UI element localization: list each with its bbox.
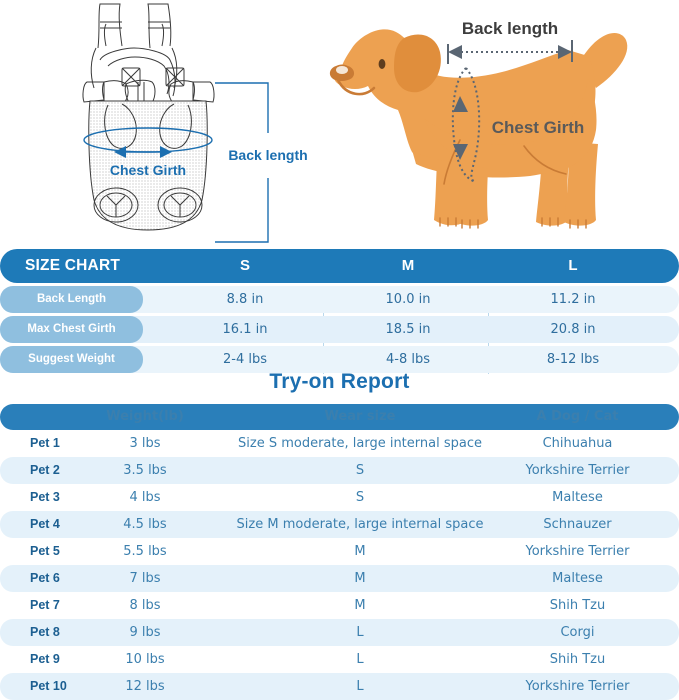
size-chart-header-row: SIZE CHART S M L: [0, 249, 679, 283]
pet-wear-size: S: [215, 457, 505, 484]
table-row: Pet 8 9 lbs L Corgi: [0, 619, 679, 646]
pet-name: Pet 5: [30, 538, 105, 565]
size-chart-table: SIZE CHART S M L Back Length 8.8 in 10.0…: [0, 249, 679, 373]
pet-wear-size: M: [215, 538, 505, 565]
try-on-header-pet: [30, 404, 105, 430]
pet-breed: Maltese: [480, 565, 675, 592]
pet-name: Pet 7: [30, 592, 105, 619]
pet-carrier-illustration: Chest Girth Back length: [60, 0, 322, 245]
size-chart-row-label: Suggest Weight: [0, 346, 143, 373]
pet-breed: Maltese: [480, 484, 675, 511]
pet-breed: Shih Tzu: [480, 646, 675, 673]
pet-wear-size: M: [215, 565, 505, 592]
pet-weight: 4.5 lbs: [95, 511, 195, 538]
size-chart-col-l: L: [533, 249, 613, 283]
pet-name: Pet 6: [30, 565, 105, 592]
size-chart-title: SIZE CHART: [25, 249, 120, 283]
pet-weight: 3 lbs: [95, 430, 195, 457]
table-row: Pet 3 4 lbs S Maltese: [0, 484, 679, 511]
dog-chest-girth-label: Chest Girth: [492, 118, 585, 137]
table-row: Pet 9 10 lbs L Shih Tzu: [0, 646, 679, 673]
table-row: Pet 10 12 lbs L Yorkshire Terrier: [0, 673, 679, 700]
size-chart-row: Max Chest Girth 16.1 in 18.5 in 20.8 in: [0, 316, 679, 343]
pet-weight: 5.5 lbs: [95, 538, 195, 565]
size-chart-row: Suggest Weight 2-4 lbs 4-8 lbs 8-12 lbs: [0, 346, 679, 373]
pet-weight: 8 lbs: [95, 592, 195, 619]
size-chart-cell: 16.1 in: [190, 316, 300, 343]
pet-weight: 4 lbs: [95, 484, 195, 511]
dog-back-length-label: Back length: [462, 19, 558, 38]
try-on-header-breed: A Dog / Cat: [480, 404, 675, 430]
illustration-band: Chest Girth Back length: [0, 0, 679, 245]
size-chart-cell: 8.8 in: [190, 286, 300, 313]
try-on-header-weight: Weight(lb): [95, 404, 195, 430]
table-row: Pet 7 8 lbs M Shih Tzu: [0, 592, 679, 619]
size-chart-col-s: S: [205, 249, 285, 283]
pet-breed: Corgi: [480, 619, 675, 646]
size-chart-cell: 10.0 in: [353, 286, 463, 313]
pet-weight: 12 lbs: [95, 673, 195, 700]
size-chart-cell: 8-12 lbs: [518, 346, 628, 373]
pet-breed: Yorkshire Terrier: [480, 457, 675, 484]
pet-name: Pet 2: [30, 457, 105, 484]
size-chart-row-label: Max Chest Girth: [0, 316, 143, 343]
pet-wear-size: S: [215, 484, 505, 511]
pet-name: Pet 9: [30, 646, 105, 673]
pet-wear-size: L: [215, 619, 505, 646]
pet-breed: Chihuahua: [480, 430, 675, 457]
size-chart-cell: 2-4 lbs: [190, 346, 300, 373]
size-chart-cell: 11.2 in: [518, 286, 628, 313]
pet-wear-size: Size S moderate, large internal space: [215, 430, 505, 457]
pet-wear-size: Size M moderate, large internal space: [215, 511, 505, 538]
try-on-header-row: Weight(lb) Wear size A Dog / Cat: [0, 404, 679, 430]
size-chart-col-m: M: [368, 249, 448, 283]
size-chart-cell: 4-8 lbs: [353, 346, 463, 373]
pet-name: Pet 3: [30, 484, 105, 511]
carrier-chest-girth-label: Chest Girth: [110, 162, 186, 178]
pet-wear-size: L: [215, 646, 505, 673]
pet-weight: 7 lbs: [95, 565, 195, 592]
pet-breed: Yorkshire Terrier: [480, 673, 675, 700]
size-chart-row-label: Back Length: [0, 286, 143, 313]
pet-name: Pet 8: [30, 619, 105, 646]
try-on-report-title: Try-on Report: [0, 370, 679, 394]
size-chart-cell: 18.5 in: [353, 316, 463, 343]
dog-illustration: Back length Chest Girth: [320, 0, 679, 245]
table-row: Pet 2 3.5 lbs S Yorkshire Terrier: [0, 457, 679, 484]
try-on-header-wear-size: Wear size: [215, 404, 505, 430]
pet-weight: 9 lbs: [95, 619, 195, 646]
pet-wear-size: L: [215, 673, 505, 700]
try-on-report-table: Weight(lb) Wear size A Dog / Cat Pet 1 3…: [0, 404, 679, 700]
pet-name: Pet 10: [30, 673, 105, 700]
pet-breed: Schnauzer: [480, 511, 675, 538]
pet-weight: 3.5 lbs: [95, 457, 195, 484]
pet-wear-size: M: [215, 592, 505, 619]
table-row: Pet 4 4.5 lbs Size M moderate, large int…: [0, 511, 679, 538]
size-chart-cell: 20.8 in: [518, 316, 628, 343]
pet-weight: 10 lbs: [95, 646, 195, 673]
carrier-back-length-label: Back length: [228, 147, 307, 163]
size-chart-row: Back Length 8.8 in 10.0 in 11.2 in: [0, 286, 679, 313]
pet-name: Pet 1: [30, 430, 105, 457]
pet-breed: Shih Tzu: [480, 592, 675, 619]
table-row: Pet 1 3 lbs Size S moderate, large inter…: [0, 430, 679, 457]
table-row: Pet 5 5.5 lbs M Yorkshire Terrier: [0, 538, 679, 565]
pet-name: Pet 4: [30, 511, 105, 538]
table-row: Pet 6 7 lbs M Maltese: [0, 565, 679, 592]
pet-breed: Yorkshire Terrier: [480, 538, 675, 565]
